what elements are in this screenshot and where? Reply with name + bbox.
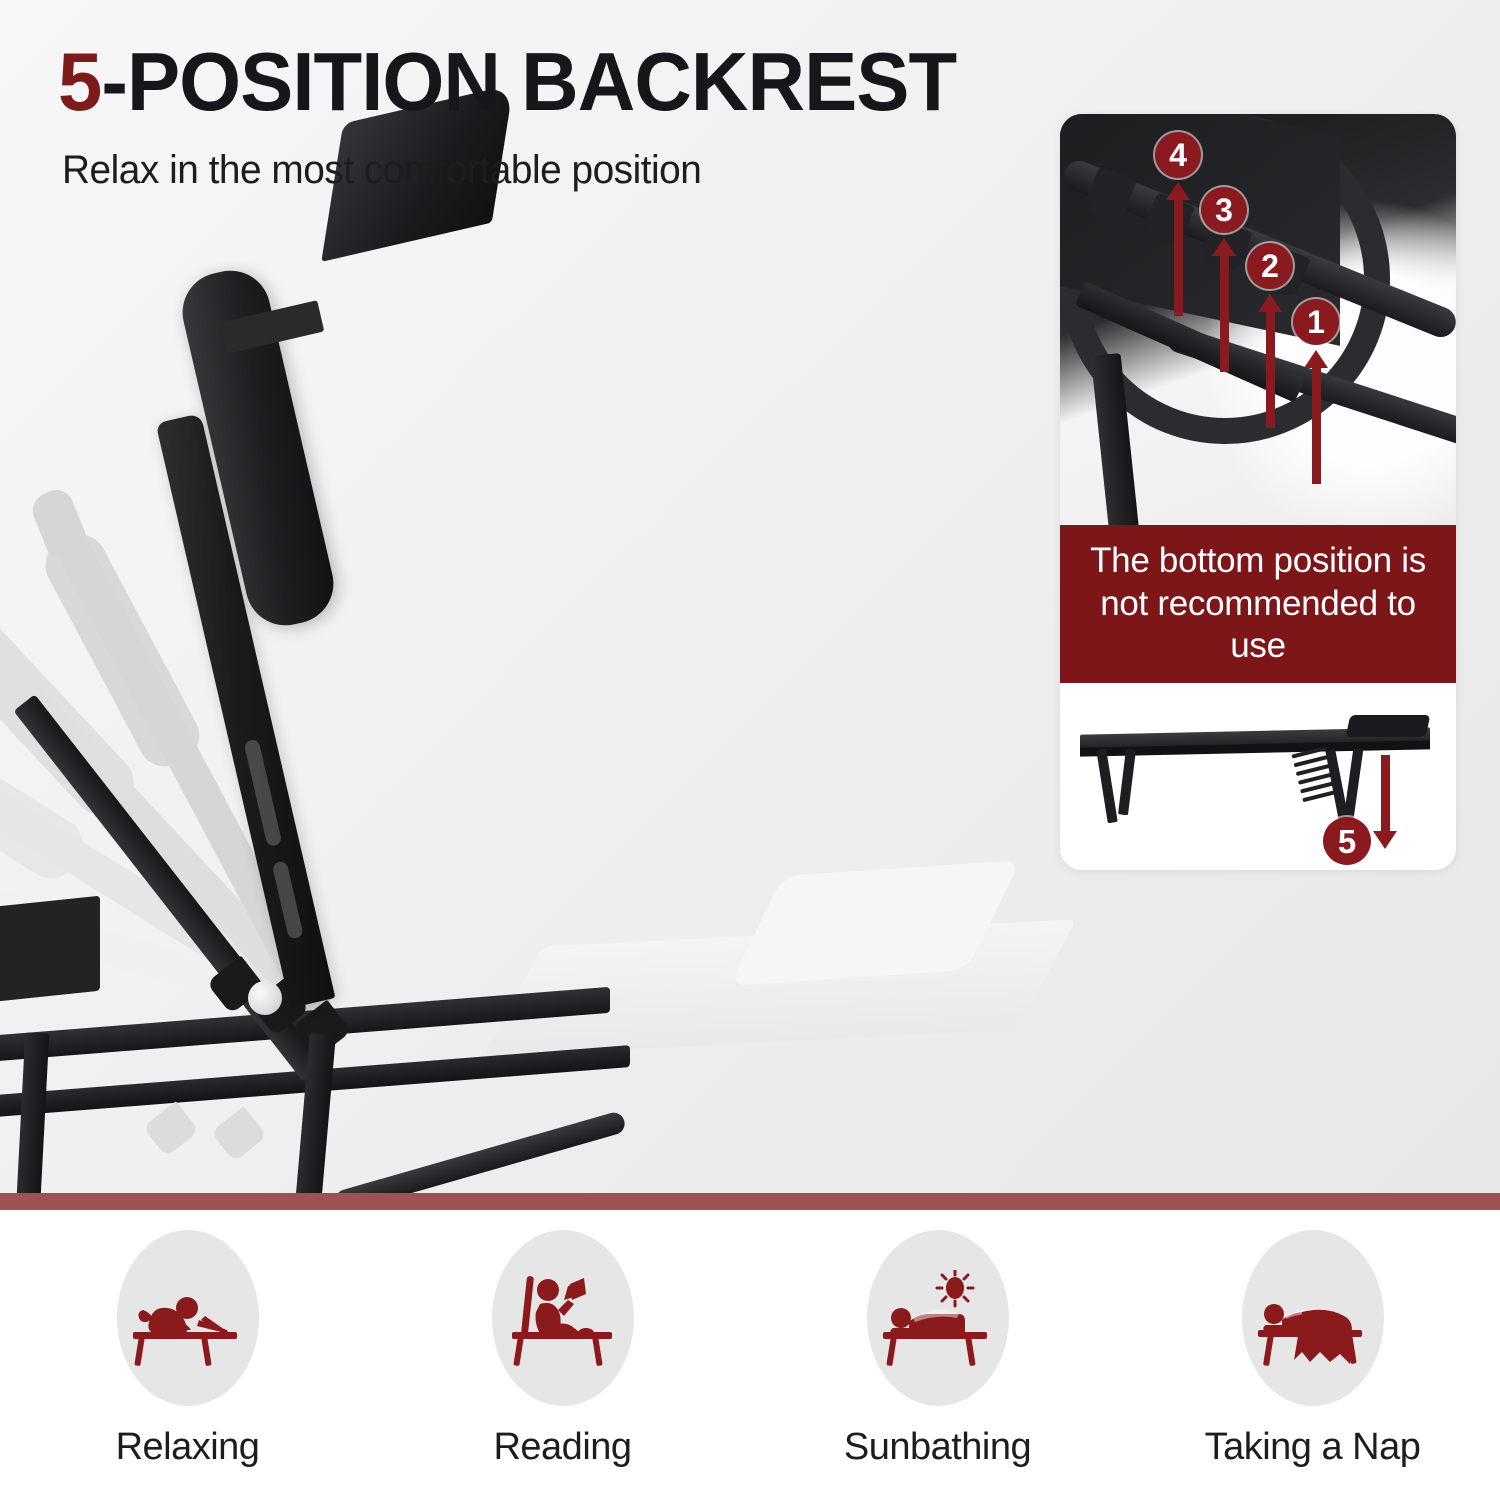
hero-banner: 5-POSITION BACKREST Relax in the most co… bbox=[0, 0, 1500, 1193]
position-arrow-5 bbox=[1381, 755, 1390, 833]
position-detail-panel: 4 3 2 1 The bottom position is not recom… bbox=[1060, 114, 1456, 870]
use-case-list: Relaxing Reading bbox=[0, 1210, 1500, 1500]
position-arrow-4 bbox=[1174, 198, 1183, 316]
warning-caption: The bottom position is not recommended t… bbox=[1060, 525, 1456, 683]
ghost-notch bbox=[211, 1106, 267, 1162]
position-arrow-1 bbox=[1312, 366, 1321, 484]
page-subtitle: Relax in the most comfortable position bbox=[62, 148, 701, 193]
person-relaxing-on-lounger-icon bbox=[129, 1270, 247, 1366]
icon-background bbox=[492, 1230, 634, 1406]
lounger-leg bbox=[1118, 749, 1136, 816]
pivot-cap bbox=[248, 981, 282, 1015]
use-case-taking-a-nap: Taking a Nap bbox=[1153, 1230, 1473, 1469]
flat-lounger-photo: 5 bbox=[1060, 683, 1456, 870]
position-badge-4: 4 bbox=[1155, 132, 1201, 178]
use-case-label: Reading bbox=[493, 1426, 631, 1469]
page-title: 5-POSITION BACKREST bbox=[58, 40, 956, 123]
ratchet-closeup-photo: 4 3 2 1 bbox=[1060, 114, 1456, 525]
use-case-reading: Reading bbox=[403, 1230, 723, 1469]
position-badge-1: 1 bbox=[1293, 299, 1339, 345]
position-arrow-2 bbox=[1266, 310, 1275, 428]
position-badge-5: 5 bbox=[1323, 817, 1371, 865]
use-case-label: Relaxing bbox=[116, 1426, 260, 1469]
backrest-slot bbox=[272, 860, 304, 939]
use-case-sunbathing: Sunbathing bbox=[778, 1230, 1098, 1469]
section-divider bbox=[0, 1193, 1500, 1210]
icon-background bbox=[117, 1230, 259, 1406]
person-sunbathing-with-sun-icon bbox=[879, 1270, 997, 1366]
icon-background bbox=[1242, 1230, 1384, 1406]
headline-number: 5 bbox=[58, 35, 101, 128]
lounger-leg bbox=[1343, 749, 1363, 826]
position-badge-3: 3 bbox=[1201, 187, 1247, 233]
use-case-label: Taking a Nap bbox=[1205, 1426, 1421, 1469]
use-case-label: Sunbathing bbox=[844, 1426, 1031, 1469]
use-case-relaxing: Relaxing bbox=[28, 1230, 348, 1469]
person-reading-on-lounger-icon bbox=[504, 1270, 622, 1366]
backrest-slot bbox=[243, 739, 282, 848]
frame-round-tube bbox=[333, 1110, 627, 1193]
icon-background bbox=[867, 1230, 1009, 1406]
lounger-leg bbox=[1096, 749, 1117, 824]
ghost-notch bbox=[143, 1101, 199, 1157]
headline-text: -POSITION BACKREST bbox=[101, 35, 956, 128]
position-arrow-3 bbox=[1220, 254, 1229, 372]
seat-mesh bbox=[0, 896, 100, 1006]
lounger-pillow bbox=[1346, 715, 1431, 737]
person-napping-with-blanket-icon bbox=[1254, 1270, 1372, 1366]
position-badge-2: 2 bbox=[1247, 243, 1293, 289]
